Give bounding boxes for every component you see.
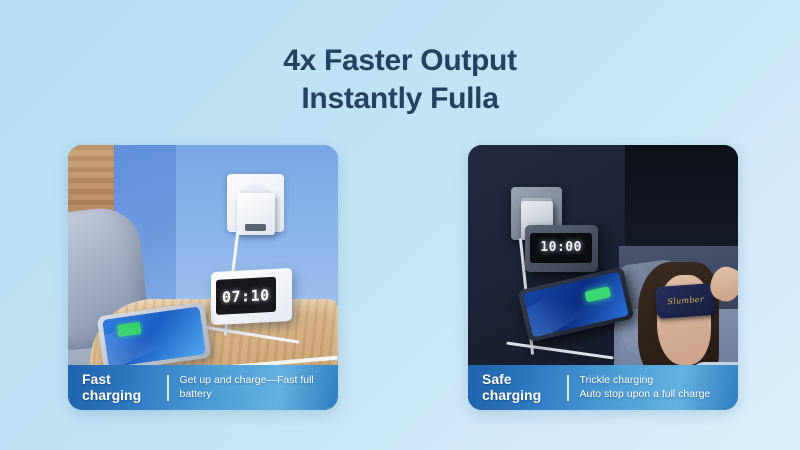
caption-title: Fast charging xyxy=(82,372,156,403)
caption-bar-safe-charging: Safe charging Trickle charging Auto stop… xyxy=(468,365,738,410)
caption-divider xyxy=(567,375,569,401)
sleep-mask: Slumber xyxy=(655,283,716,319)
battery-icon xyxy=(584,285,611,302)
caption-description: Trickle charging Auto stop upon a full c… xyxy=(580,374,711,402)
battery-icon xyxy=(117,322,142,338)
headboard xyxy=(625,145,738,251)
caption-description: Get up and charge—Fast full battery xyxy=(180,374,325,402)
alarm-clock: 07:10 xyxy=(211,267,292,324)
feature-card-fast-charging[interactable]: 07:10 Fast charging Get up and charge—Fa… xyxy=(68,145,338,410)
wall-charger xyxy=(237,193,275,235)
headline-line-2: Instantly Fulla xyxy=(0,80,800,118)
sleep-mask-label: Slumber xyxy=(667,296,704,308)
alarm-clock: 10:00 xyxy=(525,225,598,273)
phone-screen xyxy=(103,307,206,368)
caption-bar-fast-charging: Fast charging Get up and charge—Fast ful… xyxy=(68,365,338,410)
feature-card-safe-charging[interactable]: 10:00 Slumber Safe charging Trickle char… xyxy=(468,145,738,410)
caption-divider xyxy=(167,375,169,401)
page-title: 4x Faster Output Instantly Fulla xyxy=(0,42,800,119)
clock-display: 10:00 xyxy=(530,233,593,264)
headline-line-1: 4x Faster Output xyxy=(0,42,800,80)
clock-display: 07:10 xyxy=(216,277,276,315)
clock-time-text: 07:10 xyxy=(222,286,270,306)
clock-time-text: 10:00 xyxy=(540,240,582,255)
caption-title: Safe charging xyxy=(482,372,556,403)
